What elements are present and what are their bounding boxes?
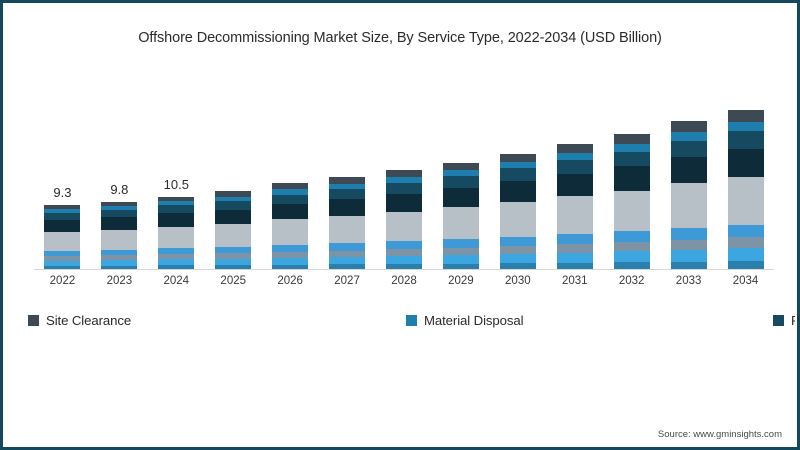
bar-slot xyxy=(603,88,660,269)
bar-segment[interactable] xyxy=(557,253,593,263)
bar-segment[interactable] xyxy=(671,262,707,269)
bar-segment[interactable] xyxy=(671,141,707,157)
legend-swatch-icon xyxy=(773,315,784,326)
bar-segment[interactable] xyxy=(272,258,308,265)
bar-segment[interactable] xyxy=(329,216,365,244)
bar-segment[interactable] xyxy=(728,131,764,148)
bar-slot xyxy=(319,88,376,269)
x-axis-line xyxy=(34,269,774,270)
bar-segment[interactable] xyxy=(443,207,479,239)
bar-segment[interactable] xyxy=(671,132,707,141)
bar-segment[interactable] xyxy=(272,204,308,219)
bar-segment[interactable] xyxy=(557,174,593,197)
stacked-bar[interactable] xyxy=(500,154,536,269)
x-tick-2025: 2025 xyxy=(205,275,262,287)
bar-segment[interactable] xyxy=(101,230,137,250)
bar-segment[interactable] xyxy=(44,220,80,232)
legend-swatch-icon xyxy=(406,315,417,326)
bar-slot xyxy=(546,88,603,269)
bar-segment[interactable] xyxy=(215,224,251,247)
bar-segment[interactable] xyxy=(386,241,422,249)
bar-slot xyxy=(262,88,319,269)
bar-segment[interactable] xyxy=(443,255,479,263)
bar-segment[interactable] xyxy=(329,243,365,250)
stacked-bar[interactable] xyxy=(272,183,308,269)
stacked-bar[interactable] xyxy=(671,121,707,269)
source-attribution: Source: www.gminsights.com xyxy=(658,429,782,440)
bar-segment[interactable] xyxy=(101,217,137,229)
chart-title: Offshore Decommissioning Market Size, By… xyxy=(0,30,800,46)
stacked-bar[interactable] xyxy=(386,170,422,269)
bar-segment[interactable] xyxy=(728,177,764,225)
bar-segment[interactable] xyxy=(728,225,764,238)
bar-segment[interactable] xyxy=(728,261,764,269)
bar-segment[interactable] xyxy=(728,149,764,178)
bar-segment[interactable] xyxy=(101,210,137,218)
bar-slot: 9.8 xyxy=(91,88,148,269)
bar-segment[interactable] xyxy=(557,244,593,253)
bar-value-label: 10.5 xyxy=(164,177,189,192)
x-tick-2032: 2032 xyxy=(603,275,660,287)
stacked-bar[interactable] xyxy=(443,163,479,269)
bar-slot xyxy=(717,88,774,269)
bar-segment[interactable] xyxy=(500,181,536,202)
stacked-bar[interactable] xyxy=(557,144,593,269)
x-tick-2029: 2029 xyxy=(432,275,489,287)
stacked-bar[interactable]: 10.5 xyxy=(158,197,194,269)
bar-segment[interactable] xyxy=(557,196,593,234)
bar-segment[interactable] xyxy=(671,228,707,240)
stacked-bar[interactable] xyxy=(614,134,650,269)
bar-segment[interactable] xyxy=(614,262,650,269)
bar-segment[interactable] xyxy=(671,183,707,227)
stacked-bar[interactable] xyxy=(728,110,764,269)
bar-segment[interactable] xyxy=(671,240,707,250)
x-tick-2022: 2022 xyxy=(34,275,91,287)
bar-segment[interactable] xyxy=(671,250,707,262)
bar-segment[interactable] xyxy=(272,245,308,252)
bar-segment[interactable] xyxy=(386,249,422,256)
bar-slot: 10.5 xyxy=(148,88,205,269)
bar-segment[interactable] xyxy=(728,122,764,132)
bar-segment[interactable] xyxy=(443,239,479,247)
legend-item[interactable]: Material Disposal xyxy=(406,309,773,331)
bar-segment[interactable] xyxy=(215,201,251,210)
bar-segment[interactable] xyxy=(158,205,194,213)
bar-segment[interactable] xyxy=(614,134,650,144)
bar-segment[interactable] xyxy=(557,160,593,174)
x-tick-2030: 2030 xyxy=(489,275,546,287)
bar-segment[interactable] xyxy=(44,213,80,220)
bar-value-label: 9.8 xyxy=(110,182,128,197)
chart-legend: Site ClearanceMaterial DisposalPipeline … xyxy=(28,309,773,331)
bar-slot xyxy=(205,88,262,269)
bar-segment[interactable] xyxy=(500,162,536,169)
stacked-bar[interactable]: 9.3 xyxy=(44,205,80,269)
x-tick-2027: 2027 xyxy=(319,275,376,287)
bar-segment[interactable] xyxy=(386,194,422,212)
bar-segment[interactable] xyxy=(386,183,422,194)
bar-value-label: 9.3 xyxy=(53,185,71,200)
bar-segment[interactable] xyxy=(329,257,365,264)
bar-segment[interactable] xyxy=(728,110,764,121)
bar-segment[interactable] xyxy=(386,256,422,264)
bar-segment[interactable] xyxy=(272,219,308,245)
chart-container: Offshore Decommissioning Market Size, By… xyxy=(0,0,800,450)
bar-segment[interactable] xyxy=(728,237,764,248)
x-tick-2024: 2024 xyxy=(148,275,205,287)
bar-slot xyxy=(660,88,717,269)
bar-segment[interactable] xyxy=(614,152,650,167)
x-tick-2023: 2023 xyxy=(91,275,148,287)
legend-label: Site Clearance xyxy=(46,313,131,328)
bar-segment[interactable] xyxy=(614,242,650,251)
x-axis-tick-labels: 2022202320242025202620272028202920302031… xyxy=(34,275,774,287)
bar-segment[interactable] xyxy=(557,153,593,161)
bar-slot xyxy=(376,88,433,269)
bar-segment[interactable] xyxy=(500,246,536,254)
x-tick-2034: 2034 xyxy=(717,275,774,287)
x-tick-2031: 2031 xyxy=(546,275,603,287)
x-tick-2033: 2033 xyxy=(660,275,717,287)
legend-item[interactable]: Pipeline and Power Cable Decommissioning xyxy=(773,309,800,331)
bar-segment[interactable] xyxy=(614,144,650,152)
legend-swatch-icon xyxy=(28,315,39,326)
bar-segment[interactable] xyxy=(728,248,764,261)
bar-segment[interactable] xyxy=(443,248,479,255)
bar-slot xyxy=(489,88,546,269)
bar-segment[interactable] xyxy=(44,232,80,251)
bar-segment[interactable] xyxy=(671,157,707,184)
bar-segment[interactable] xyxy=(329,199,365,216)
bar-segment[interactable] xyxy=(215,210,251,224)
bar-segment[interactable] xyxy=(158,213,194,226)
plot-area: 9.39.810.5 xyxy=(34,88,774,270)
legend-label: Pipeline and Power Cable Decommissioning xyxy=(791,313,800,328)
stacked-bar[interactable]: 9.8 xyxy=(101,202,137,269)
bar-segment[interactable] xyxy=(386,212,422,242)
bar-segment[interactable] xyxy=(500,237,536,246)
stacked-bar[interactable] xyxy=(215,191,251,269)
bar-segment[interactable] xyxy=(443,188,479,207)
bar-group: 9.39.810.5 xyxy=(34,88,774,269)
bar-segment[interactable] xyxy=(614,251,650,262)
bar-segment[interactable] xyxy=(614,166,650,190)
bar-segment[interactable] xyxy=(614,191,650,232)
bar-slot: 9.3 xyxy=(34,88,91,269)
bar-segment[interactable] xyxy=(557,234,593,244)
bar-segment[interactable] xyxy=(158,227,194,249)
x-tick-2026: 2026 xyxy=(262,275,319,287)
x-tick-2028: 2028 xyxy=(376,275,433,287)
bar-segment[interactable] xyxy=(386,170,422,177)
bar-segment[interactable] xyxy=(500,202,536,237)
legend-item[interactable]: Site Clearance xyxy=(28,309,406,331)
bar-segment[interactable] xyxy=(443,163,479,171)
bar-segment[interactable] xyxy=(614,231,650,242)
bar-segment[interactable] xyxy=(500,154,536,162)
bar-segment[interactable] xyxy=(557,144,593,153)
bar-segment[interactable] xyxy=(272,195,308,204)
legend-label: Material Disposal xyxy=(424,313,523,328)
bar-segment[interactable] xyxy=(500,168,536,181)
bar-segment[interactable] xyxy=(671,121,707,131)
bar-slot xyxy=(432,88,489,269)
bar-segment[interactable] xyxy=(329,189,365,199)
stacked-bar[interactable] xyxy=(329,177,365,269)
bar-segment[interactable] xyxy=(443,176,479,188)
bar-segment[interactable] xyxy=(500,254,536,263)
